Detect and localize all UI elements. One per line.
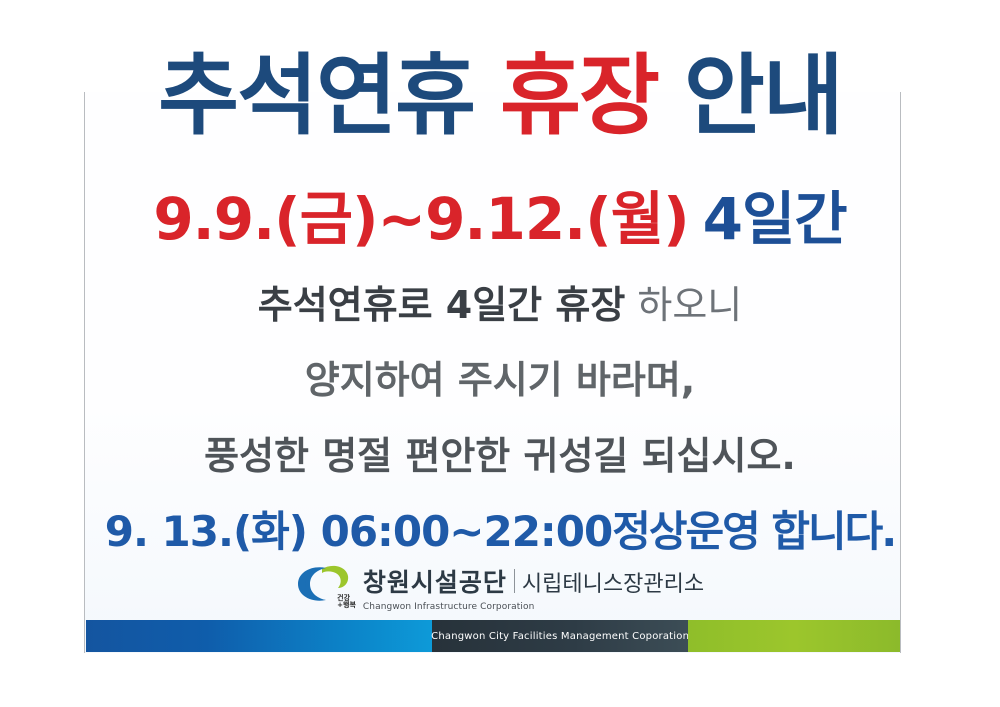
reopen-line: 9. 13.(화) 06:00~22:00정상운영 합니다. <box>0 511 1000 553</box>
closure-date-line: 9.9.(금)~9.12.(월)4일간 <box>0 190 1000 248</box>
footer-color-bar: Changwon City Facilities Management Copo… <box>86 620 900 652</box>
closure-date-range: 9.9.(금)~9.12.(월) <box>153 185 688 253</box>
footer-navy-segment: Changwon City Facilities Management Copo… <box>432 620 688 652</box>
body-line-2: 양지하여 주시기 바라며, <box>0 361 1000 399</box>
changwon-c-swoosh-logo-icon: 건강 +행복 <box>296 562 354 608</box>
logo-tagline: 건강 +행복 <box>337 595 356 609</box>
title-part-notice: 안내 <box>684 44 842 147</box>
body-line-1-strong: 추석연휴로 4일간 휴장 <box>258 283 626 327</box>
reopen-status: 정상운영 합니다. <box>612 507 895 556</box>
footer-caption: Changwon City Facilities Management Copo… <box>431 631 689 642</box>
title-part-holiday: 추석연휴 <box>158 44 474 147</box>
reopen-schedule: 9. 13.(화) 06:00~22:00 <box>105 507 612 556</box>
organization-name-block: 창원시설공단 시립테니스장관리소 Changwon Infrastructure… <box>363 562 704 612</box>
logo-tagline-line-2: +행복 <box>337 602 356 609</box>
closure-duration: 4일간 <box>703 185 847 253</box>
title-part-closure: 휴장 <box>500 44 658 147</box>
logo-divider <box>514 569 515 593</box>
body-line-3: 풍성한 명절 편안한 귀성길 되십시오. <box>0 437 1000 475</box>
organization-name-ko: 창원시설공단 <box>363 563 507 599</box>
organization-name-en: Changwon Infrastructure Corporation <box>363 602 534 612</box>
notice-poster: 추석연휴휴장안내 9.9.(금)~9.12.(월)4일간 추석연휴로 4일간 휴… <box>0 0 1000 707</box>
organization-logo-block: 건강 +행복 창원시설공단 시립테니스장관리소 Changwon Infrast… <box>0 562 1000 612</box>
footer-blue-segment <box>86 620 432 652</box>
footer-green-segment <box>688 620 900 652</box>
body-line-1: 추석연휴로 4일간 휴장 하오니 <box>0 286 1000 324</box>
facility-name-ko: 시립테니스장관리소 <box>522 566 704 598</box>
body-line-1-light: 하오니 <box>637 283 742 327</box>
organization-names-row: 창원시설공단 시립테니스장관리소 <box>363 563 704 599</box>
poster-title: 추석연휴휴장안내 <box>0 52 1000 140</box>
